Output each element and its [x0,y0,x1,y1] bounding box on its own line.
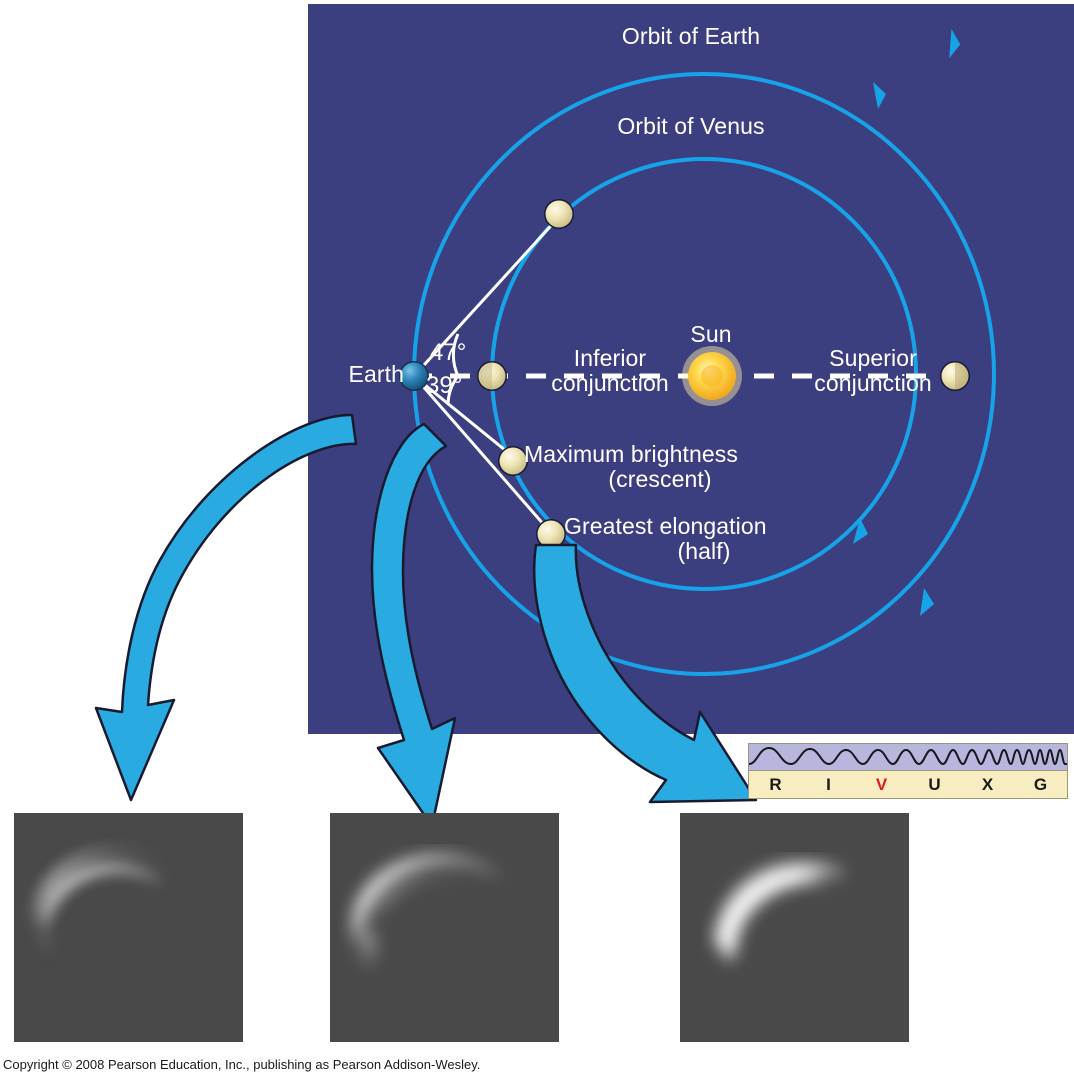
label-sun: Sun [651,322,771,347]
earth-orbit-arrow-bottom [920,588,934,616]
maximum-brightness-line2: (crescent) [524,467,796,492]
spectrum-letter-v: V [855,775,908,795]
venus-photo-half [680,813,909,1042]
venus-greatest-elongation-east [544,199,574,229]
spectrum-letter-i: I [802,775,855,795]
greatest-elongation-line1: Greatest elongation [564,513,767,539]
angle-label-39: 39° [426,372,462,400]
venus-inferior-conjunction [477,361,507,391]
venus-orbit-arrow-top [873,82,886,109]
spectrum-letter-r: R [749,775,802,795]
venus-photo-crescent-thin [14,813,243,1042]
superior-conjunction-line1: Superior [829,345,917,371]
venus-photo-crescent [330,813,559,1042]
greatest-elongation-line2: (half) [564,539,844,564]
spectrum-indicator: R I V U X G [748,743,1068,799]
spectrum-letter-x: X [961,775,1014,795]
label-greatest-elongation: Greatest elongation(half) [564,514,844,564]
orbit-diagram-panel: Orbit of Earth Orbit of Venus Sun Earth … [308,4,1074,734]
inferior-conjunction-line1: Inferior [574,345,646,371]
venus-greatest-elongation-half [536,519,566,549]
label-orbit-of-venus: Orbit of Venus [308,114,1074,139]
spectrum-letters-row: R I V U X G [749,771,1067,799]
label-superior-conjunction: Superior conjunction [778,346,968,396]
copyright-notice: Copyright © 2008 Pearson Education, Inc.… [3,1057,480,1072]
inferior-conjunction-line2: conjunction [551,370,668,396]
label-maximum-brightness: Maximum brightness(crescent) [524,442,796,492]
superior-conjunction-line2: conjunction [814,370,931,396]
label-orbit-of-earth: Orbit of Earth [308,24,1074,49]
angle-label-47: 47° [430,339,466,367]
spectrum-letter-u: U [908,775,961,795]
label-inferior-conjunction: Inferior conjunction [520,346,700,396]
spectrum-wave-graphic [749,744,1067,771]
spectrum-letter-g: G [1014,775,1067,795]
label-earth: Earth [318,362,404,387]
figure-canvas: Orbit of Earth Orbit of Venus Sun Earth … [0,0,1074,1080]
maximum-brightness-line1: Maximum brightness [524,441,738,467]
